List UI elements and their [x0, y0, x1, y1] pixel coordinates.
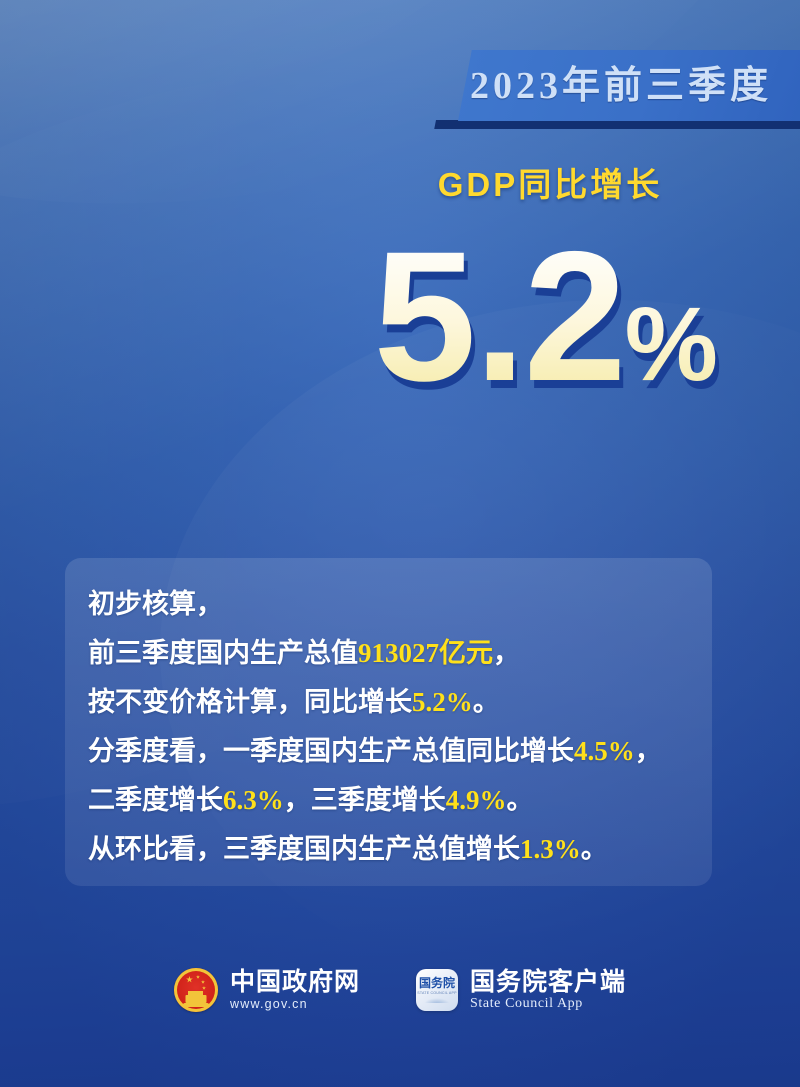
- app-icon-label: 国务院: [419, 977, 455, 990]
- headline-value: 5.2%: [373, 222, 718, 440]
- gov-cn-name: 中国政府网: [230, 968, 360, 996]
- national-emblem-icon: [174, 968, 218, 1012]
- body-text-run: 按不变价格计算，同比增长: [88, 687, 412, 717]
- body-text-highlight: 4.9%: [446, 785, 507, 815]
- body-text-highlight: 913027亿元: [358, 638, 493, 668]
- body-text-highlight: 1.3%: [520, 834, 581, 864]
- body-text-run: ，: [635, 736, 662, 766]
- headline-unit: %: [625, 286, 718, 403]
- body-text-highlight: 6.3%: [223, 785, 284, 815]
- body-text-line: 前三季度国内生产总值913027亿元，: [88, 629, 708, 678]
- footer: 中国政府网 www.gov.cn 国务院 STATE COUNCIL APP 国…: [0, 952, 800, 1028]
- emblem-star-small-2: [201, 980, 205, 984]
- body-text-line: 分季度看，一季度国内生产总值同比增长4.5%，: [88, 727, 708, 776]
- emblem-gate-shape: [185, 995, 206, 1003]
- gov-cn-brand[interactable]: 中国政府网 www.gov.cn: [174, 968, 360, 1012]
- emblem-star-large: [186, 976, 193, 983]
- body-text: 初步核算，前三季度国内生产总值913027亿元，按不变价格计算，同比增长5.2%…: [88, 580, 708, 874]
- body-text-run: 。: [581, 834, 608, 864]
- state-council-app-name-cn: 国务院客户端: [470, 968, 626, 996]
- body-text-run: 前三季度国内生产总值: [88, 638, 358, 668]
- emblem-cog-shape: [183, 1003, 209, 1007]
- body-text-run: ，: [493, 638, 520, 668]
- body-text-highlight: 5.2%: [412, 687, 473, 717]
- app-icon-sublabel: STATE COUNCIL APP: [417, 991, 456, 996]
- body-text-line: 初步核算，: [88, 580, 708, 629]
- headline-value-block: 5.2% 5.2%: [150, 222, 770, 422]
- gov-cn-texts: 中国政府网 www.gov.cn: [230, 968, 360, 1012]
- body-text-run: 二季度增长: [88, 785, 223, 815]
- body-text-line: 二季度增长6.3%，三季度增长4.9%。: [88, 776, 708, 825]
- state-council-app-texts: 国务院客户端 State Council App: [470, 968, 626, 1012]
- banner-shadow-tail: [470, 120, 800, 129]
- body-text-line: 按不变价格计算，同比增长5.2%。: [88, 678, 708, 727]
- body-text-run: 分季度看，一季度国内生产总值同比增长: [88, 736, 574, 766]
- body-text-run: 。: [473, 687, 500, 717]
- app-icon-wave: [424, 998, 450, 1003]
- gov-cn-url: www.gov.cn: [230, 996, 360, 1012]
- headline-value-number: 5.2: [373, 214, 624, 420]
- header-banner-title: 2023年前三季度: [470, 56, 800, 116]
- body-text-run: ，三季度增长: [284, 785, 446, 815]
- state-council-app-brand[interactable]: 国务院 STATE COUNCIL APP 国务院客户端 State Counc…: [416, 968, 626, 1012]
- body-text-run: 初步核算，: [88, 589, 223, 619]
- body-text-highlight: 4.5%: [574, 736, 635, 766]
- body-text-run: 。: [507, 785, 534, 815]
- emblem-star-small-3: [202, 986, 206, 990]
- state-council-app-icon: 国务院 STATE COUNCIL APP: [416, 969, 458, 1011]
- infographic-poster: 2023年前三季度 GDP同比增长 5.2% 5.2% 初步核算，前三季度国内生…: [0, 0, 800, 1087]
- emblem-star-small-1: [196, 975, 200, 979]
- state-council-app-name-en: State Council App: [470, 996, 626, 1012]
- gdp-growth-label: GDP同比增长: [330, 158, 770, 206]
- body-text-run: 从环比看，三季度国内生产总值增长: [88, 834, 520, 864]
- body-text-line: 从环比看，三季度国内生产总值增长1.3%。: [88, 825, 708, 874]
